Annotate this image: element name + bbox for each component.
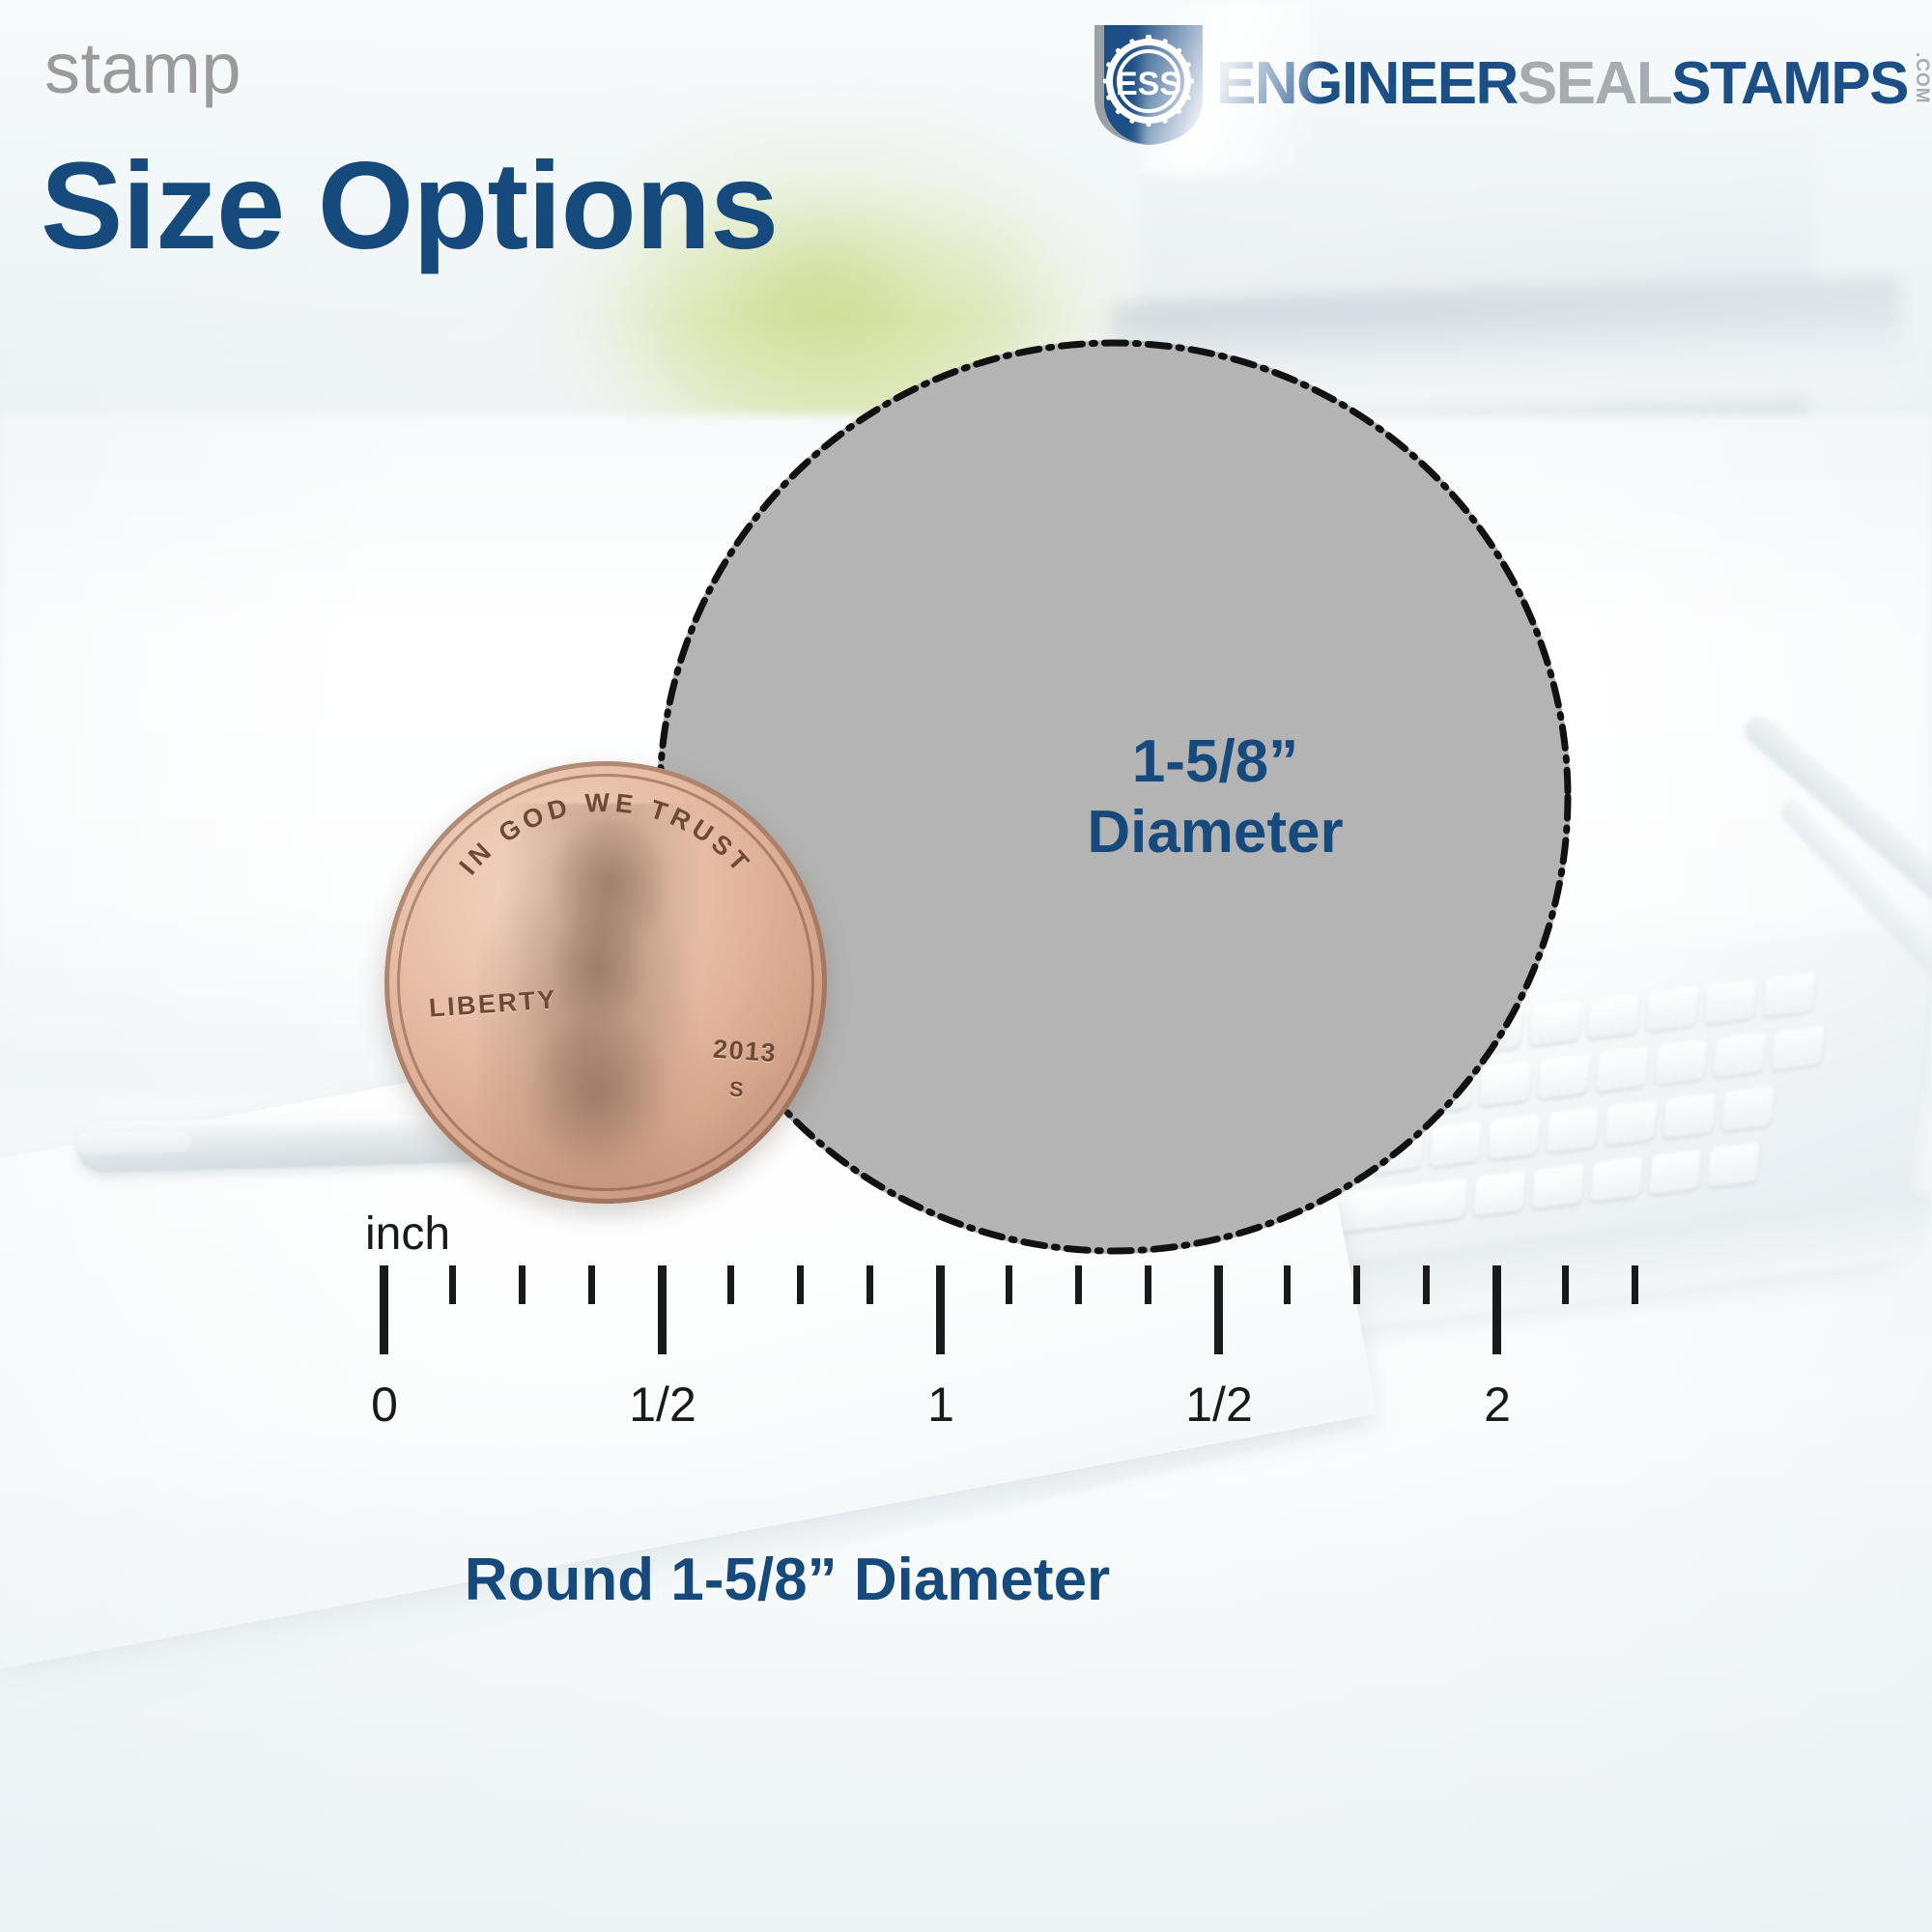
ruler-tick-minor xyxy=(867,1265,873,1304)
inch-ruler: inch 01/211/22 xyxy=(0,1246,1932,1497)
bottom-caption: Round 1-5/8” Diameter xyxy=(0,1546,1932,1614)
ruler-tick-minor xyxy=(727,1265,734,1304)
ruler-label-1: 1/2 xyxy=(629,1377,696,1433)
ruler-tick-minor xyxy=(1353,1265,1360,1304)
penny-motto-text: IN GOD WE TRUST xyxy=(454,788,758,881)
ruler-tick-minor xyxy=(1145,1265,1151,1304)
eyebrow-label: stamp xyxy=(44,33,241,104)
ruler-tick-minor xyxy=(1006,1265,1012,1304)
ruler-tick-major xyxy=(380,1265,388,1354)
ruler-tick-minor xyxy=(449,1265,456,1304)
svg-text:IN GOD WE TRUST: IN GOD WE TRUST xyxy=(454,788,758,881)
bottom-caption-text: Round 1-5/8” Diameter xyxy=(465,1546,1110,1614)
wordmark-dotcom: .COM xyxy=(1913,52,1931,112)
penny-coin: IN GOD WE TRUST LIBERTY 2013 S xyxy=(384,761,827,1204)
ruler-tick-minor xyxy=(588,1265,595,1304)
ruler-label-3: 1/2 xyxy=(1185,1377,1253,1433)
penny-mint-mark: S xyxy=(728,1077,744,1103)
ruler-label-2: 1 xyxy=(927,1377,954,1433)
logo-sheen-overlay xyxy=(1140,0,1314,174)
ruler-label-4: 2 xyxy=(1484,1377,1511,1433)
ruler-tick-minor xyxy=(1562,1265,1569,1304)
penny-motto: IN GOD WE TRUST xyxy=(384,761,827,1204)
penny-year-text: 2013 xyxy=(712,1035,778,1069)
size-options-graphic: stamp Size Options xyxy=(0,0,1932,1932)
ruler-tick-minor xyxy=(519,1265,526,1304)
wordmark-stamps: STAMPS xyxy=(1671,54,1908,114)
ruler-label-0: 0 xyxy=(371,1377,398,1433)
ruler-tick-major xyxy=(1492,1265,1501,1354)
ruler-tick-major xyxy=(658,1265,667,1354)
ruler-tick-minor xyxy=(1075,1265,1082,1304)
ruler-tick-major xyxy=(936,1265,945,1354)
ruler-unit-label: inch xyxy=(365,1207,450,1261)
page-title: Size Options xyxy=(41,145,778,269)
ruler-tick-minor xyxy=(1423,1265,1430,1304)
brand-wordmark: ENGINEER SEAL STAMPS .COM xyxy=(1216,52,1931,114)
ruler-tick-major xyxy=(1214,1265,1223,1354)
ruler-tick-minor xyxy=(1632,1265,1638,1304)
wordmark-seal: SEAL xyxy=(1518,54,1671,114)
ruler-tick-minor xyxy=(1284,1265,1291,1304)
ruler-tick-minor xyxy=(797,1265,804,1304)
